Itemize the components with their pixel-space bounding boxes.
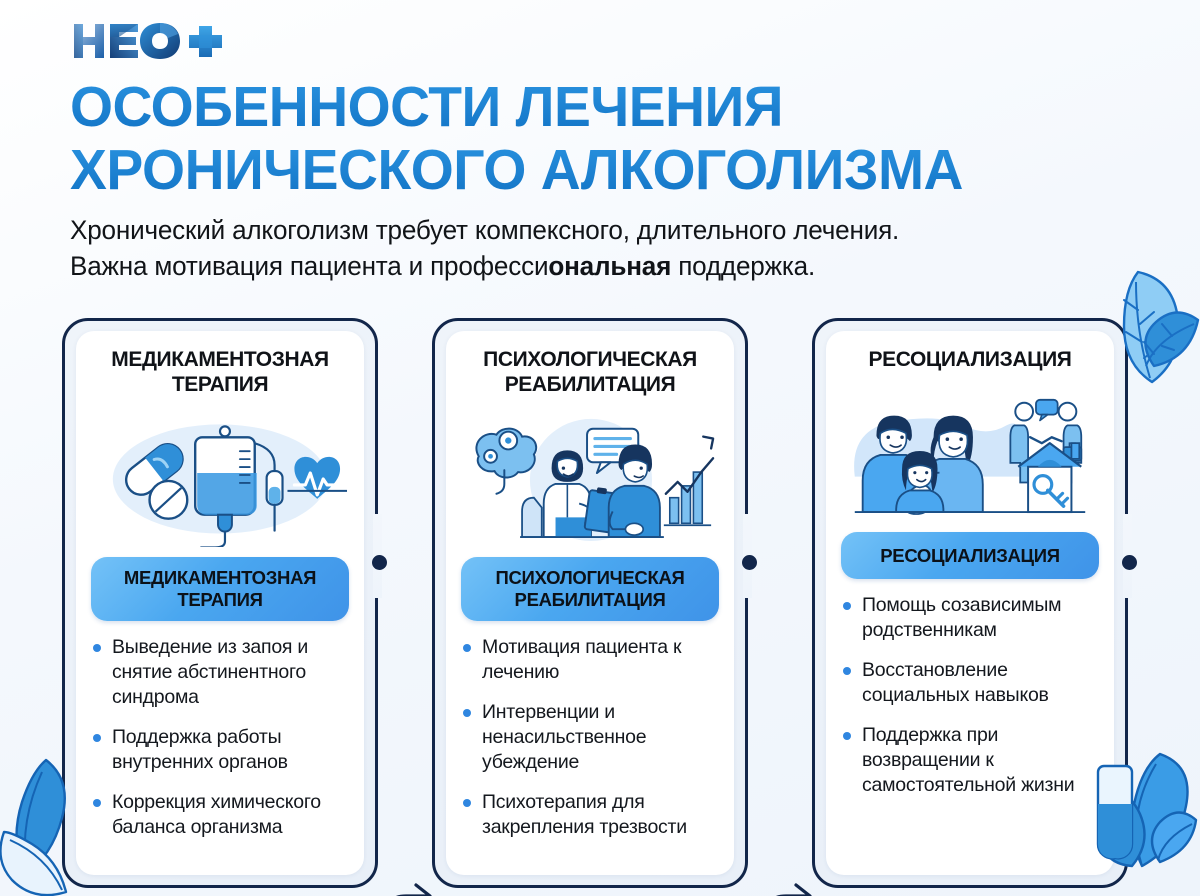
list-item: Психотерапия для закрепления трезвости [461, 790, 719, 840]
list-item: Поддержка при возвращении к самостоятель… [841, 723, 1099, 798]
card-resocializaciya[interactable]: РЕСОЦИАЛИЗАЦИЯ [812, 318, 1128, 888]
card-bullet-list: Выведение из запоя и снятие абстинентног… [91, 635, 349, 855]
card-psihologicheskaya-reabilitaciya[interactable]: ПСИХОЛОГИЧЕСКАЯ РЕАБИЛИТАЦИЯ [432, 318, 748, 888]
page-title-line-1: ОСОБЕННОСТИ ЛЕЧЕНИЯ [70, 76, 1098, 139]
neo-plus-logo-icon [72, 18, 232, 62]
card-badge-line-1: ПСИХОЛОГИЧЕСКАЯ [495, 567, 684, 588]
card-badge-line-1: МЕДИКАМЕНТОЗНАЯ [124, 567, 316, 588]
card-title: ПСИХОЛОГИЧЕСКАЯ РЕАБИЛИТАЦИЯ [461, 347, 719, 397]
card-title-line-1: ПСИХОЛОГИЧЕСКАЯ [461, 347, 719, 372]
card-bullet-list: Помощь созависимым родственникам Восстан… [841, 593, 1099, 813]
subtitle-plain-a: Важна мотивация пациента и професси [70, 251, 548, 281]
card-frame-terminal-dot [372, 555, 387, 570]
card-frame-terminal-dot [742, 555, 757, 570]
card-bullet-list: Мотивация пациента к лечению Интервенции… [461, 635, 719, 855]
card-badge[interactable]: МЕДИКАМЕНТОЗНАЯ ТЕРАПИЯ [91, 557, 349, 621]
iv-drip-pills-heart-icon [91, 407, 349, 547]
card-illustration [91, 403, 349, 551]
card-title: МЕДИКАМЕНТОЗНАЯ ТЕРАПИЯ [91, 347, 349, 397]
card-badge-line-2: РЕАБИЛИТАЦИЯ [515, 589, 666, 610]
infographic-page: ОСОБЕННОСТИ ЛЕЧЕНИЯ ХРОНИЧЕСКОГО АЛКОГОЛ… [0, 0, 1200, 896]
card-badge[interactable]: ПСИХОЛОГИЧЕСКАЯ РЕАБИЛИТАЦИЯ [461, 557, 719, 621]
therapy-session-brain-chart-icon [461, 406, 719, 548]
card-illustration [461, 403, 719, 551]
card-illustration [841, 378, 1099, 526]
brand-logo[interactable] [72, 18, 232, 62]
card-title: РЕСОЦИАЛИЗАЦИЯ [841, 347, 1099, 372]
list-item: Интервенции и ненасильственное убеждение [461, 700, 719, 775]
list-item: Выведение из запоя и снятие абстинентног… [91, 635, 349, 710]
cards-row: МЕДИКАМЕНТОЗНАЯ ТЕРАПИЯ [0, 318, 1200, 896]
list-item: Мотивация пациента к лечению [461, 635, 719, 685]
list-item: Поддержка работы внутренних органов [91, 725, 349, 775]
family-handshake-house-key-icon [841, 381, 1099, 523]
subtitle-line-2: Важна мотивация пациента и профессиональ… [70, 248, 1104, 284]
card-title-line-2: РЕАБИЛИТАЦИЯ [461, 372, 719, 397]
page-title: ОСОБЕННОСТИ ЛЕЧЕНИЯ ХРОНИЧЕСКОГО АЛКОГОЛ… [70, 76, 1130, 202]
card-panel: МЕДИКАМЕНТОЗНАЯ ТЕРАПИЯ [76, 331, 364, 875]
card-title-line-1: МЕДИКАМЕНТОЗНАЯ [91, 347, 349, 372]
card-badge[interactable]: РЕСОЦИАЛИЗАЦИЯ [841, 532, 1099, 579]
page-subtitle: Хронический алкоголизм требует компексно… [70, 212, 1104, 284]
card-panel: ПСИХОЛОГИЧЕСКАЯ РЕАБИЛИТАЦИЯ [446, 331, 734, 875]
card-panel: РЕСОЦИАЛИЗАЦИЯ [826, 331, 1114, 875]
card-badge-line-1: РЕСОЦИАЛИЗАЦИЯ [880, 545, 1060, 566]
list-item: Восстановление социальных навыков [841, 658, 1099, 708]
card-badge-text: МЕДИКАМЕНТОЗНАЯ ТЕРАПИЯ [124, 567, 316, 611]
card-badge-line-2: ТЕРАПИЯ [177, 589, 262, 610]
card-badge-text: ПСИХОЛОГИЧЕСКАЯ РЕАБИЛИТАЦИЯ [495, 567, 684, 611]
list-item: Коррекция химического баланса организма [91, 790, 349, 840]
card-medikamentoznaya-terapiya[interactable]: МЕДИКАМЕНТОЗНАЯ ТЕРАПИЯ [62, 318, 378, 888]
subtitle-plain-b: поддержка. [671, 251, 815, 281]
card-title-line-1: РЕСОЦИАЛИЗАЦИЯ [841, 347, 1099, 372]
subtitle-bold: ональная [548, 251, 671, 281]
card-title-line-2: ТЕРАПИЯ [91, 372, 349, 397]
card-badge-text: РЕСОЦИАЛИЗАЦИЯ [880, 545, 1060, 567]
list-item: Помощь созависимым родственникам [841, 593, 1099, 643]
page-title-line-2: ХРОНИЧЕСКОГО АЛКОГОЛИЗМА [70, 139, 1098, 202]
card-frame-terminal-dot [1122, 555, 1137, 570]
subtitle-line-1: Хронический алкоголизм требует компексно… [70, 212, 1104, 248]
